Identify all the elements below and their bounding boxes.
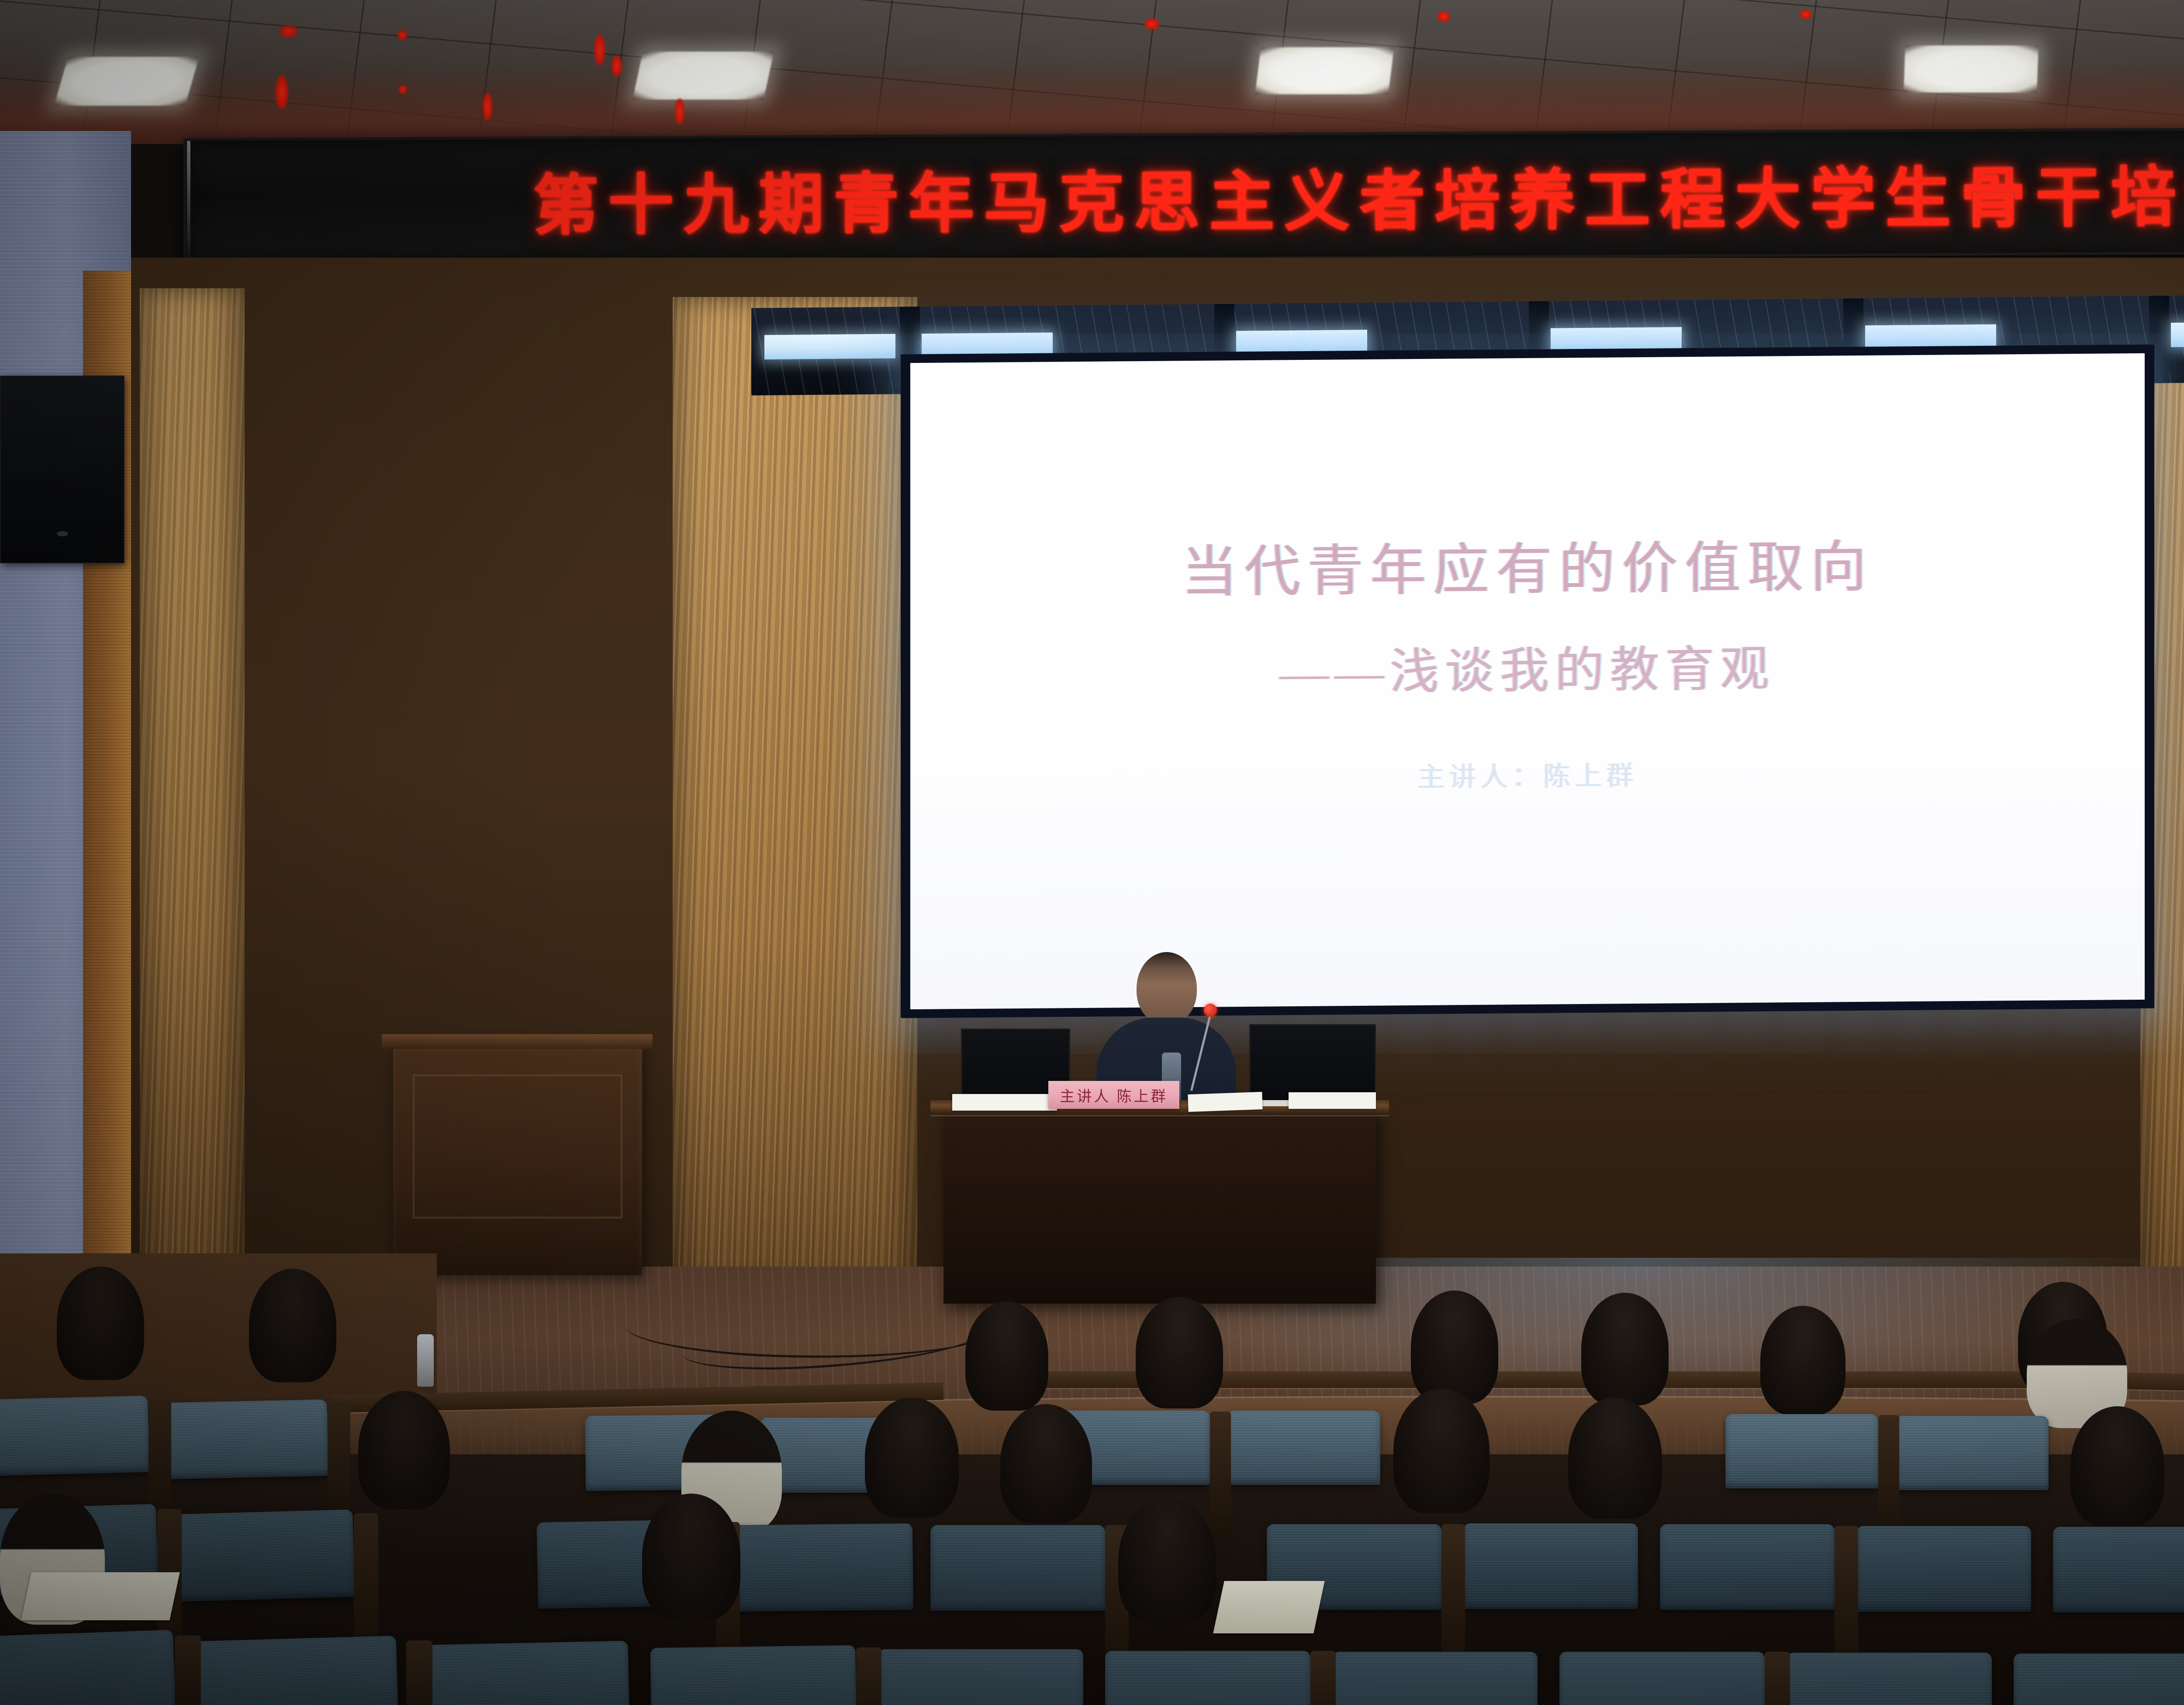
audience-water-bottle (417, 1334, 434, 1387)
slide-title: 当代青年应有的价值取向 (1182, 521, 1873, 607)
audience-seat (1660, 1524, 1835, 1610)
audience-person (865, 1398, 959, 1518)
ceiling-light-panel (1255, 47, 1394, 94)
audience-person (57, 1267, 144, 1380)
seat-divider (1441, 1524, 1465, 1664)
audience-seat (2053, 1527, 2184, 1612)
microphone-indicator-icon (1204, 1004, 1217, 1017)
seat-divider (175, 1636, 201, 1705)
audience-seat (187, 1636, 399, 1705)
stage-lamp (764, 334, 895, 359)
presenter-head (1137, 952, 1197, 1025)
ceiling-red-reflection (280, 25, 298, 38)
seat-divider (1835, 1526, 1858, 1666)
seat-divider (1210, 1412, 1231, 1538)
ceiling-light-panel (1904, 45, 2039, 93)
led-banner: 第十九期青年马克思主义者培养工程大学生骨干培训班专题报告 (183, 124, 2184, 265)
audience-person (642, 1494, 740, 1620)
seat-divider (406, 1640, 432, 1705)
confidence-monitor (1249, 1024, 1376, 1103)
audience-person (1118, 1498, 1216, 1625)
audience-person (965, 1301, 1048, 1411)
audience-seat (165, 1399, 328, 1479)
audience-seat (733, 1523, 913, 1612)
audience-seat (1332, 1652, 1538, 1705)
table-paper (1289, 1092, 1376, 1109)
stage-lectern (393, 1044, 642, 1275)
audience-seat (0, 1630, 176, 1705)
audience-seat (1856, 1526, 2031, 1612)
audience-person (2070, 1406, 2164, 1526)
audience-seat (1725, 1414, 1878, 1488)
table-paper (1188, 1092, 1262, 1112)
audience-seat (2014, 1653, 2184, 1705)
audience-person (1393, 1389, 1489, 1513)
ceiling-red-reflection (1437, 11, 1450, 22)
auditorium-scene: 第十九期青年马克思主义者培养工程大学生骨干培训班专题报告 当代青年应有的价值取向… (0, 0, 2184, 1705)
stage-curtain-left-inner (673, 297, 917, 1288)
seat-divider (1310, 1651, 1336, 1705)
projection-screen: 当代青年应有的价值取向 ——浅谈我的教育观 主讲人：陈上群 (910, 353, 2145, 1009)
ceiling (0, 0, 2184, 144)
audience-person (249, 1269, 336, 1382)
audience-seat (1105, 1651, 1310, 1705)
ceiling-red-reflection (594, 34, 605, 66)
audience-person (1000, 1404, 1092, 1523)
seat-divider (856, 1647, 881, 1705)
seat-divider (1878, 1415, 1899, 1542)
lectern-front-panel (413, 1074, 622, 1218)
ceiling-red-reflection (1144, 18, 1159, 30)
seat-divider (354, 1513, 378, 1657)
ceiling-red-reflection (275, 75, 288, 109)
ceiling-light-panel (54, 57, 199, 106)
audience-seat (1896, 1416, 2049, 1490)
audience-person (1760, 1306, 1845, 1415)
audience-seat (1463, 1523, 1638, 1609)
ceiling-red-reflection (483, 93, 492, 121)
audience-person (1581, 1293, 1669, 1405)
ceiling-red-reflection (397, 30, 407, 40)
audience-seat (930, 1525, 1105, 1611)
ceiling-red-reflection (675, 98, 684, 124)
audience-seat (1559, 1652, 1765, 1705)
projection-screen-frame: 当代青年应有的价值取向 ——浅谈我的教育观 主讲人：陈上群 (901, 345, 2154, 1018)
audience-seat (1227, 1411, 1380, 1485)
table-paper (952, 1094, 1057, 1111)
audience-seat (878, 1649, 1083, 1705)
stage-lamp (2171, 322, 2184, 347)
audience-notebook (21, 1572, 180, 1620)
audience-seat (418, 1641, 630, 1705)
slide-subtitle: ——浅谈我的教育观 (1280, 629, 1775, 704)
ceiling-red-reflection (1800, 10, 1812, 19)
audience-person (358, 1391, 450, 1509)
audience-notebook (1213, 1581, 1325, 1633)
wall-speaker-left (0, 376, 124, 563)
ceiling-light-panel (632, 52, 774, 100)
presenter-table: 主讲人 陈上群 (943, 1111, 1376, 1304)
audience-seat (650, 1645, 857, 1705)
audience-person (1136, 1297, 1223, 1408)
ceiling-red-reflection (612, 55, 622, 77)
name-placard: 主讲人 陈上群 (1048, 1081, 1179, 1109)
stage-curtain-left-outer (140, 288, 245, 1284)
led-banner-text: 第十九期青年马克思主义者培养工程大学生骨干培训班专题报告 (186, 126, 2184, 262)
audience-seat (0, 1396, 149, 1476)
audience-person (1411, 1291, 1498, 1404)
lectern-top (382, 1034, 653, 1049)
audience-seat (169, 1509, 355, 1602)
audience-seat (1787, 1653, 1992, 1705)
seat-divider (1765, 1652, 1790, 1705)
ceiling-red-reflection (398, 85, 407, 94)
slide-presenter: 主讲人：陈上群 (1417, 753, 1638, 794)
audience-person (1568, 1398, 1662, 1519)
